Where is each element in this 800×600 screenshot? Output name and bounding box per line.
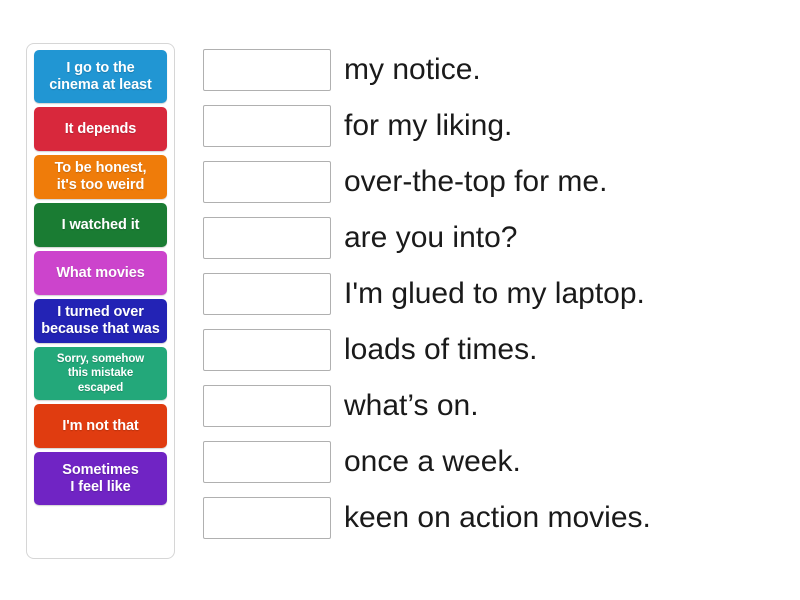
answer-row: loads of times. [203, 329, 783, 371]
dropzone[interactable] [203, 273, 331, 315]
draggable-tile[interactable]: I watched it [34, 203, 167, 247]
tile-label: It depends [65, 121, 137, 138]
dropzone[interactable] [203, 161, 331, 203]
tile-label: Sorry, somehow this mistake escaped [57, 352, 144, 394]
draggable-tile[interactable]: It depends [34, 107, 167, 151]
tile-list: I go to the cinema at leastIt dependsTo … [34, 50, 167, 552]
answer-text: over-the-top for me. [344, 167, 607, 197]
draggable-tile[interactable]: To be honest, it's too weird [34, 155, 167, 199]
tile-label: I watched it [62, 217, 140, 234]
answer-text: are you into? [344, 223, 517, 253]
dropzone[interactable] [203, 49, 331, 91]
tile-label: What movies [56, 265, 144, 282]
answer-row: are you into? [203, 217, 783, 259]
draggable-tile[interactable]: I go to the cinema at least [34, 50, 167, 103]
answer-text: I'm glued to my laptop. [344, 279, 645, 309]
tile-tray: I go to the cinema at leastIt dependsTo … [26, 43, 175, 559]
answer-rows: my notice.for my liking.over-the-top for… [203, 49, 783, 539]
answer-row: I'm glued to my laptop. [203, 273, 783, 315]
answer-row: my notice. [203, 49, 783, 91]
tile-label: I'm not that [62, 418, 138, 435]
dropzone[interactable] [203, 385, 331, 427]
answer-text: my notice. [344, 55, 481, 85]
tile-label: I turned over because that was [41, 304, 159, 337]
answer-row: for my liking. [203, 105, 783, 147]
dropzone[interactable] [203, 497, 331, 539]
tile-label: To be honest, it's too weird [55, 160, 147, 193]
dropzone[interactable] [203, 217, 331, 259]
answer-text: for my liking. [344, 111, 512, 141]
answer-row: keen on action movies. [203, 497, 783, 539]
tile-label: I go to the cinema at least [49, 60, 151, 93]
dropzone[interactable] [203, 329, 331, 371]
draggable-tile[interactable]: I turned over because that was [34, 299, 167, 343]
tile-label: Sometimes I feel like [62, 462, 138, 495]
answer-text: what’s on. [344, 391, 479, 421]
draggable-tile[interactable]: Sorry, somehow this mistake escaped [34, 347, 167, 400]
answer-text: loads of times. [344, 335, 537, 365]
activity-canvas: I go to the cinema at leastIt dependsTo … [0, 0, 800, 600]
answer-text: keen on action movies. [344, 503, 651, 533]
draggable-tile[interactable]: I'm not that [34, 404, 167, 448]
dropzone[interactable] [203, 441, 331, 483]
dropzone[interactable] [203, 105, 331, 147]
draggable-tile[interactable]: Sometimes I feel like [34, 452, 167, 505]
answer-row: once a week. [203, 441, 783, 483]
answer-row: what’s on. [203, 385, 783, 427]
answer-row: over-the-top for me. [203, 161, 783, 203]
draggable-tile[interactable]: What movies [34, 251, 167, 295]
answer-text: once a week. [344, 447, 521, 477]
